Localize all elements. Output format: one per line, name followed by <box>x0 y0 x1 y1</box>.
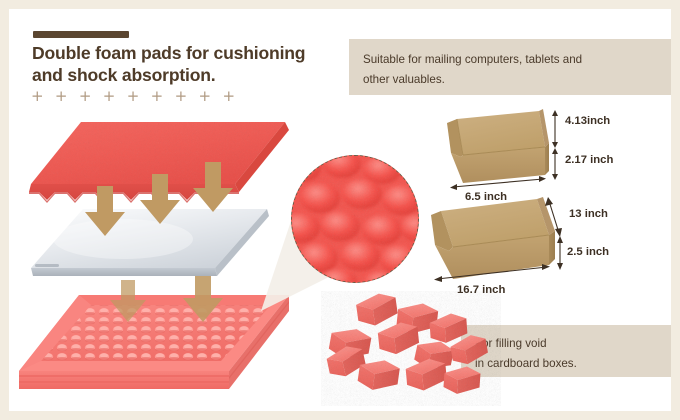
infographic-card: Double foam pads for cushioning and shoc… <box>9 9 671 411</box>
title-line-1: Double foam pads for cushioning <box>32 42 352 64</box>
page-title: Double foam pads for cushioning and shoc… <box>32 42 352 87</box>
large-box-depth-label: 13 inch <box>569 208 608 220</box>
small-box-depth-label: 4.13inch <box>565 115 610 127</box>
note-top: Suitable for mailing computers, tablets … <box>349 39 671 95</box>
pink-foam-cube-pile <box>321 291 501 406</box>
arrow-down-icon <box>110 280 146 322</box>
arrow-down-icon <box>85 186 125 236</box>
arrow-down-icon <box>183 276 223 322</box>
large-box-height-label: 2.5 inch <box>567 246 609 258</box>
small-box-width-label: 6.5 inch <box>465 191 507 203</box>
arrow-down-icon <box>140 174 180 224</box>
foam-texture-graphic <box>291 155 419 283</box>
note-top-line-2: other valuables. <box>363 70 657 90</box>
title-line-2: and shock absorption. <box>32 64 352 86</box>
small-box-height-label: 2.17 inch <box>565 154 613 166</box>
foam-texture-closeup <box>291 155 419 283</box>
note-bottom-line-1: For filling void <box>475 334 657 354</box>
large-mailer-box <box>431 197 555 279</box>
arrow-down-icon <box>193 162 233 212</box>
plus-decoration: + + + + + + + + + <box>31 89 238 104</box>
small-mailer-box <box>447 109 549 183</box>
boxes-graphic <box>419 107 671 302</box>
outer-frame: Double foam pads for cushioning and shoc… <box>0 0 680 420</box>
note-bottom-line-2: in cardboard boxes. <box>475 354 657 374</box>
box-dimension-diagrams: 4.13inch 2.17 inch 6.5 inch 13 inch 2.5 … <box>419 107 671 302</box>
title-accent-bar <box>33 31 129 38</box>
note-top-line-1: Suitable for mailing computers, tablets … <box>363 50 657 70</box>
